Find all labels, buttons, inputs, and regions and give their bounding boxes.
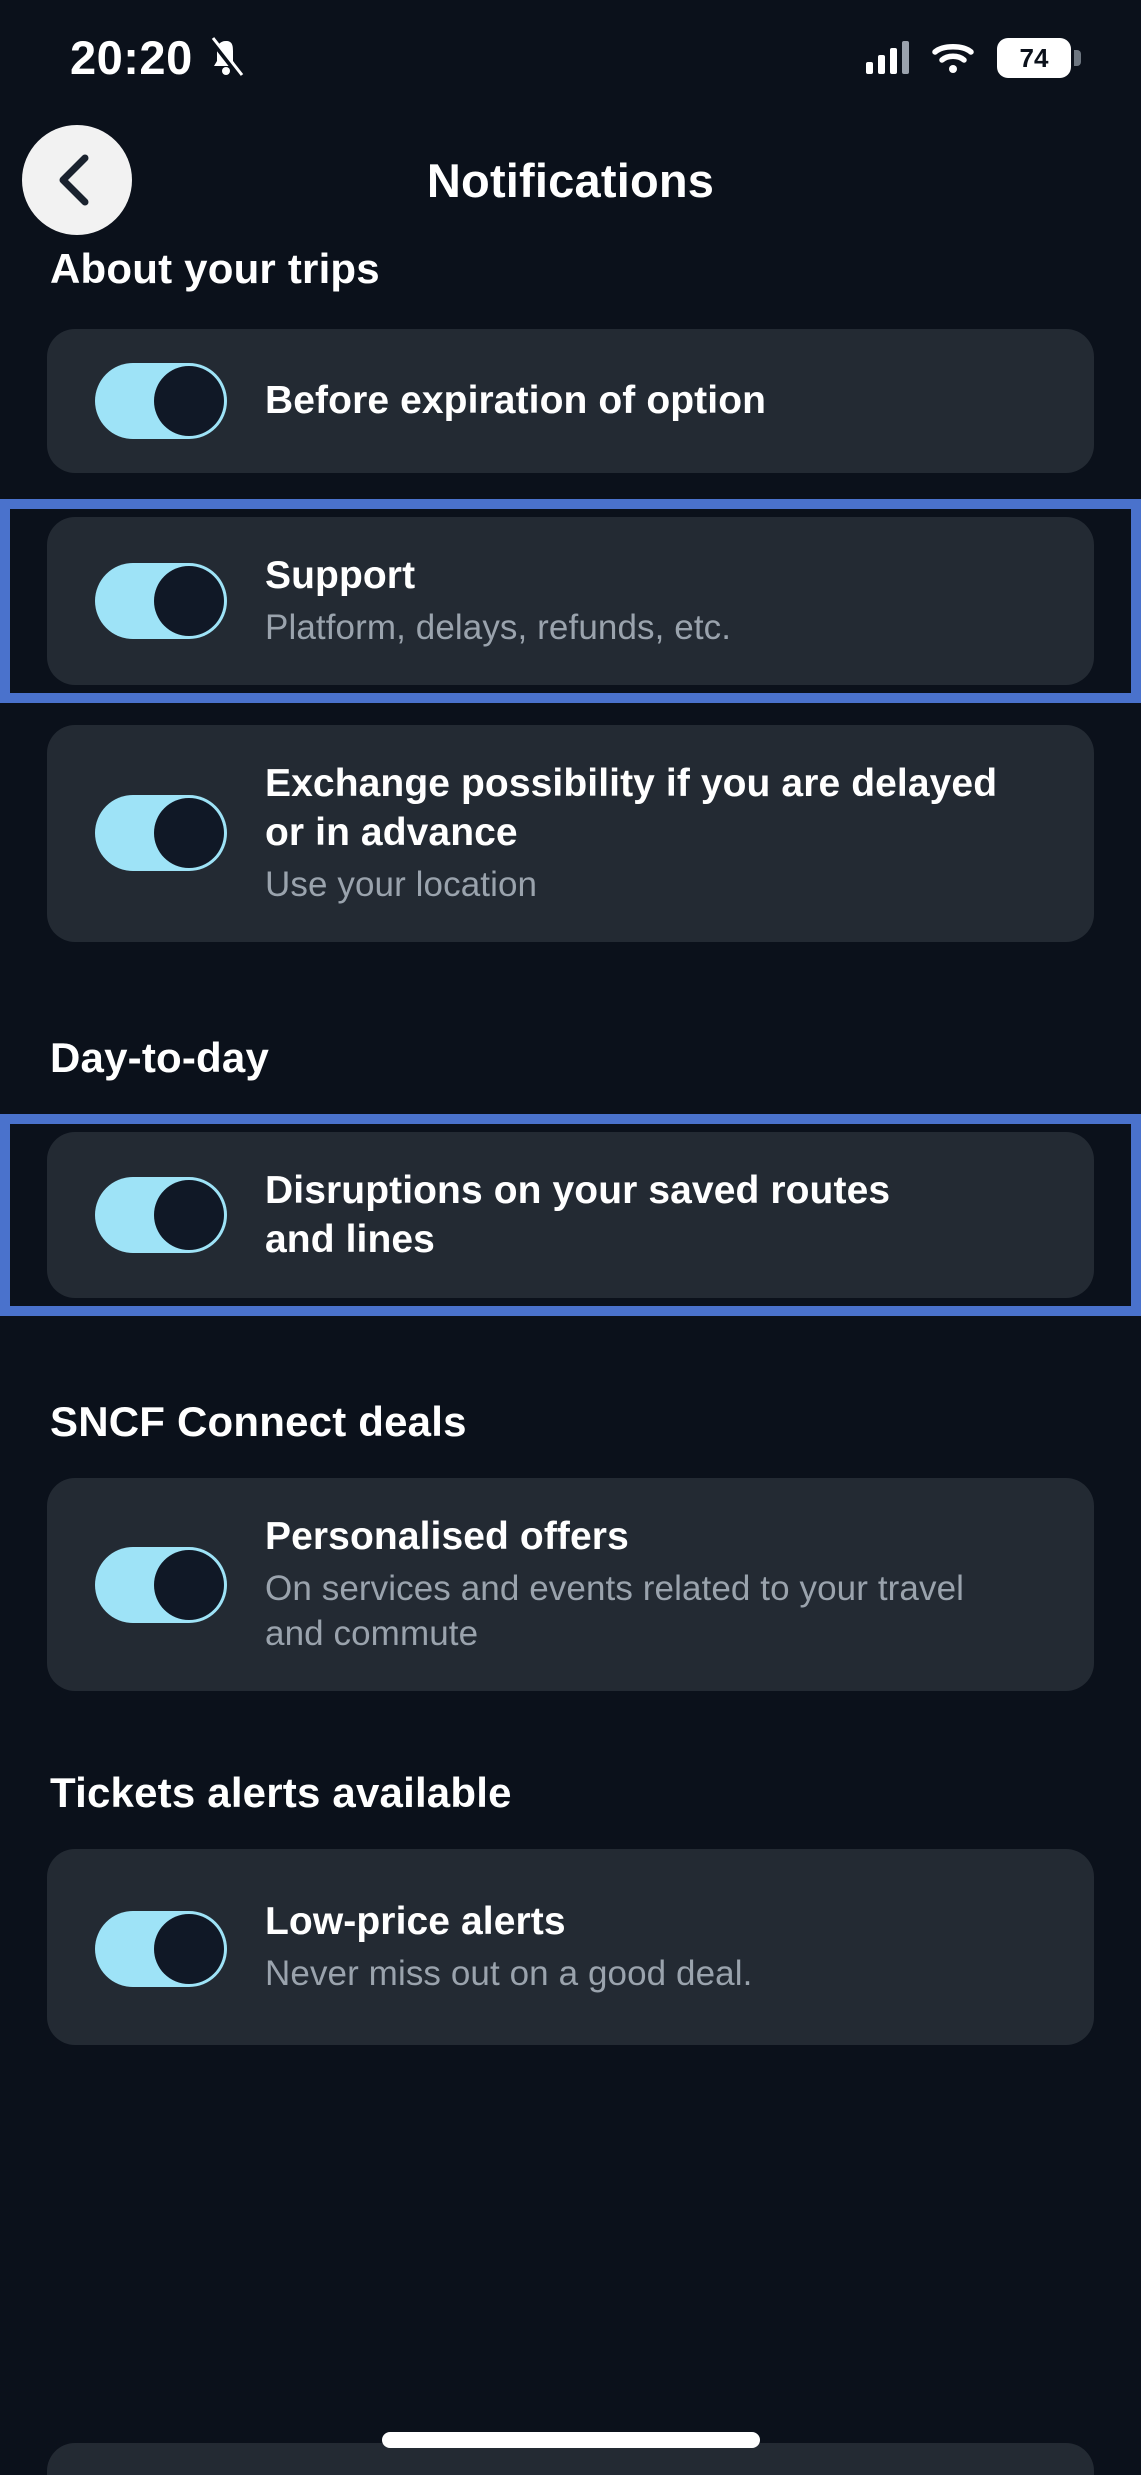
chevron-left-icon [55, 152, 99, 208]
section-title: Day-to-day [0, 1034, 1141, 1082]
setting-text: Support Platform, delays, refunds, etc. [265, 551, 1054, 651]
setting-title: Disruptions on your saved routes and lin… [265, 1166, 954, 1264]
section-title: About your trips [0, 245, 1141, 293]
setting-subtitle: Use your location [265, 863, 999, 908]
toggle-before-expiration[interactable] [95, 363, 227, 439]
setting-text: Disruptions on your saved routes and lin… [265, 1166, 954, 1264]
setting-title: Personalised offers [265, 1512, 1014, 1561]
setting-text: Exchange possibility if you are delayed … [265, 759, 999, 908]
section-tickets-alerts: Tickets alerts available Low-price alert… [0, 1769, 1141, 2045]
setting-subtitle: Never miss out on a good deal. [265, 1952, 1054, 1997]
cellular-signal-icon [866, 41, 909, 74]
wifi-icon [931, 41, 975, 75]
highlight-box-support: Support Platform, delays, refunds, etc. [0, 499, 1141, 703]
section-title: Tickets alerts available [0, 1769, 1141, 1817]
toggle-personalised-offers[interactable] [95, 1547, 227, 1623]
toggle-knob [154, 798, 224, 868]
setting-title: Low-price alerts [265, 1897, 1054, 1946]
setting-row-support[interactable]: Support Platform, delays, refunds, etc. [47, 517, 1094, 685]
setting-row-low-price-alerts[interactable]: Low-price alerts Never miss out on a goo… [47, 1849, 1094, 2045]
setting-title: Support [265, 551, 1054, 600]
battery-cap [1074, 50, 1081, 66]
toggle-exchange-possibility[interactable] [95, 795, 227, 871]
toggle-knob [154, 1180, 224, 1250]
status-bar: 20:20 74 [0, 0, 1141, 115]
battery-indicator: 74 [997, 38, 1081, 78]
bell-muted-icon [207, 37, 245, 79]
setting-row-before-expiration[interactable]: Before expiration of option [47, 329, 1094, 473]
highlight-box-disruptions: Disruptions on your saved routes and lin… [0, 1114, 1141, 1316]
notifications-screen: 20:20 74 [0, 0, 1141, 2475]
toggle-knob [154, 1550, 224, 1620]
toggle-knob [154, 566, 224, 636]
section-title: SNCF Connect deals [0, 1398, 1141, 1446]
setting-row-personalised-offers[interactable]: Personalised offers On services and even… [47, 1478, 1094, 1691]
toggle-disruptions[interactable] [95, 1177, 227, 1253]
section-day-to-day: Day-to-day Disruptions on your saved rou… [0, 1034, 1141, 1316]
setting-subtitle: On services and events related to your t… [265, 1567, 1014, 1657]
back-button[interactable] [22, 125, 132, 235]
status-bar-left: 20:20 [70, 34, 245, 81]
toggle-low-price-alerts[interactable] [95, 1911, 227, 1987]
section-sncf-connect-deals: SNCF Connect deals Personalised offers O… [0, 1398, 1141, 1691]
page-title: Notifications [0, 153, 1141, 208]
battery-percentage: 74 [1020, 45, 1049, 71]
settings-list: About your trips Before expiration of op… [0, 245, 1141, 2045]
setting-subtitle: Platform, delays, refunds, etc. [265, 606, 1054, 651]
toggle-knob [154, 1914, 224, 1984]
setting-text: Low-price alerts Never miss out on a goo… [265, 1897, 1054, 1997]
setting-title: Exchange possibility if you are delayed … [265, 759, 999, 857]
home-indicator[interactable] [382, 2432, 760, 2448]
setting-text: Personalised offers On services and even… [265, 1512, 1014, 1657]
battery-body: 74 [997, 38, 1071, 78]
status-bar-right: 74 [866, 38, 1081, 78]
section-about-your-trips: About your trips Before expiration of op… [0, 245, 1141, 942]
setting-title: Before expiration of option [265, 376, 1054, 425]
setting-text: Before expiration of option [265, 376, 1054, 425]
nav-header: Notifications [0, 120, 1141, 240]
toggle-knob [154, 366, 224, 436]
setting-row-exchange-possibility[interactable]: Exchange possibility if you are delayed … [47, 725, 1094, 942]
setting-row-disruptions[interactable]: Disruptions on your saved routes and lin… [47, 1132, 1094, 1298]
status-time: 20:20 [70, 34, 193, 81]
toggle-support[interactable] [95, 563, 227, 639]
